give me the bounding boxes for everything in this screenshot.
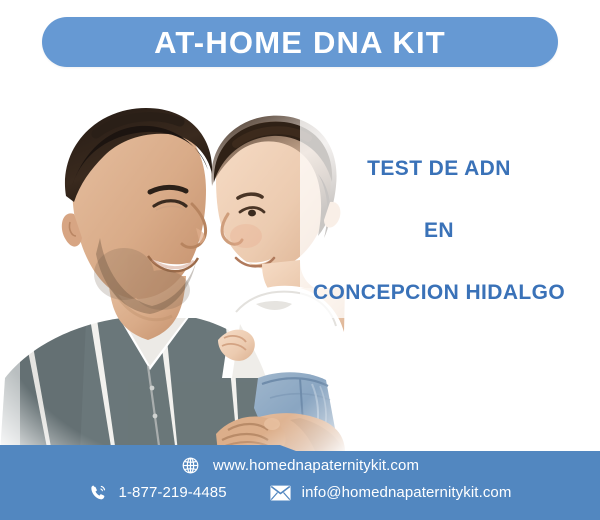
headline-line-1: TEST DE ADN — [278, 158, 600, 179]
headline-line-2: EN — [278, 220, 600, 241]
phone-group[interactable]: 1-877-219-4485 — [89, 483, 227, 502]
phone-text[interactable]: 1-877-219-4485 — [119, 485, 227, 500]
footer-contact-block: www.homednapaternitykit.com 1-877-219-44… — [0, 451, 600, 520]
footer-contact-row: 1-877-219-4485 info@homednapaternitykit.… — [0, 483, 600, 502]
phone-icon — [89, 483, 108, 502]
email-text[interactable]: info@homednapaternitykit.com — [302, 485, 512, 500]
footer-website-row: www.homednapaternitykit.com — [0, 456, 600, 475]
website-text[interactable]: www.homednapaternitykit.com — [213, 458, 419, 473]
dna-kit-promo-card: AT-HOME DNA KIT — [0, 0, 600, 520]
header-banner: AT-HOME DNA KIT — [42, 17, 558, 67]
email-group[interactable]: info@homednapaternitykit.com — [270, 485, 512, 501]
globe-icon — [181, 456, 200, 475]
headline-block: TEST DE ADN EN CONCEPCION HIDALGO — [278, 158, 600, 303]
envelope-icon — [270, 485, 291, 501]
headline-line-3: CONCEPCION HIDALGO — [278, 282, 600, 303]
page-title: AT-HOME DNA KIT — [154, 27, 446, 58]
